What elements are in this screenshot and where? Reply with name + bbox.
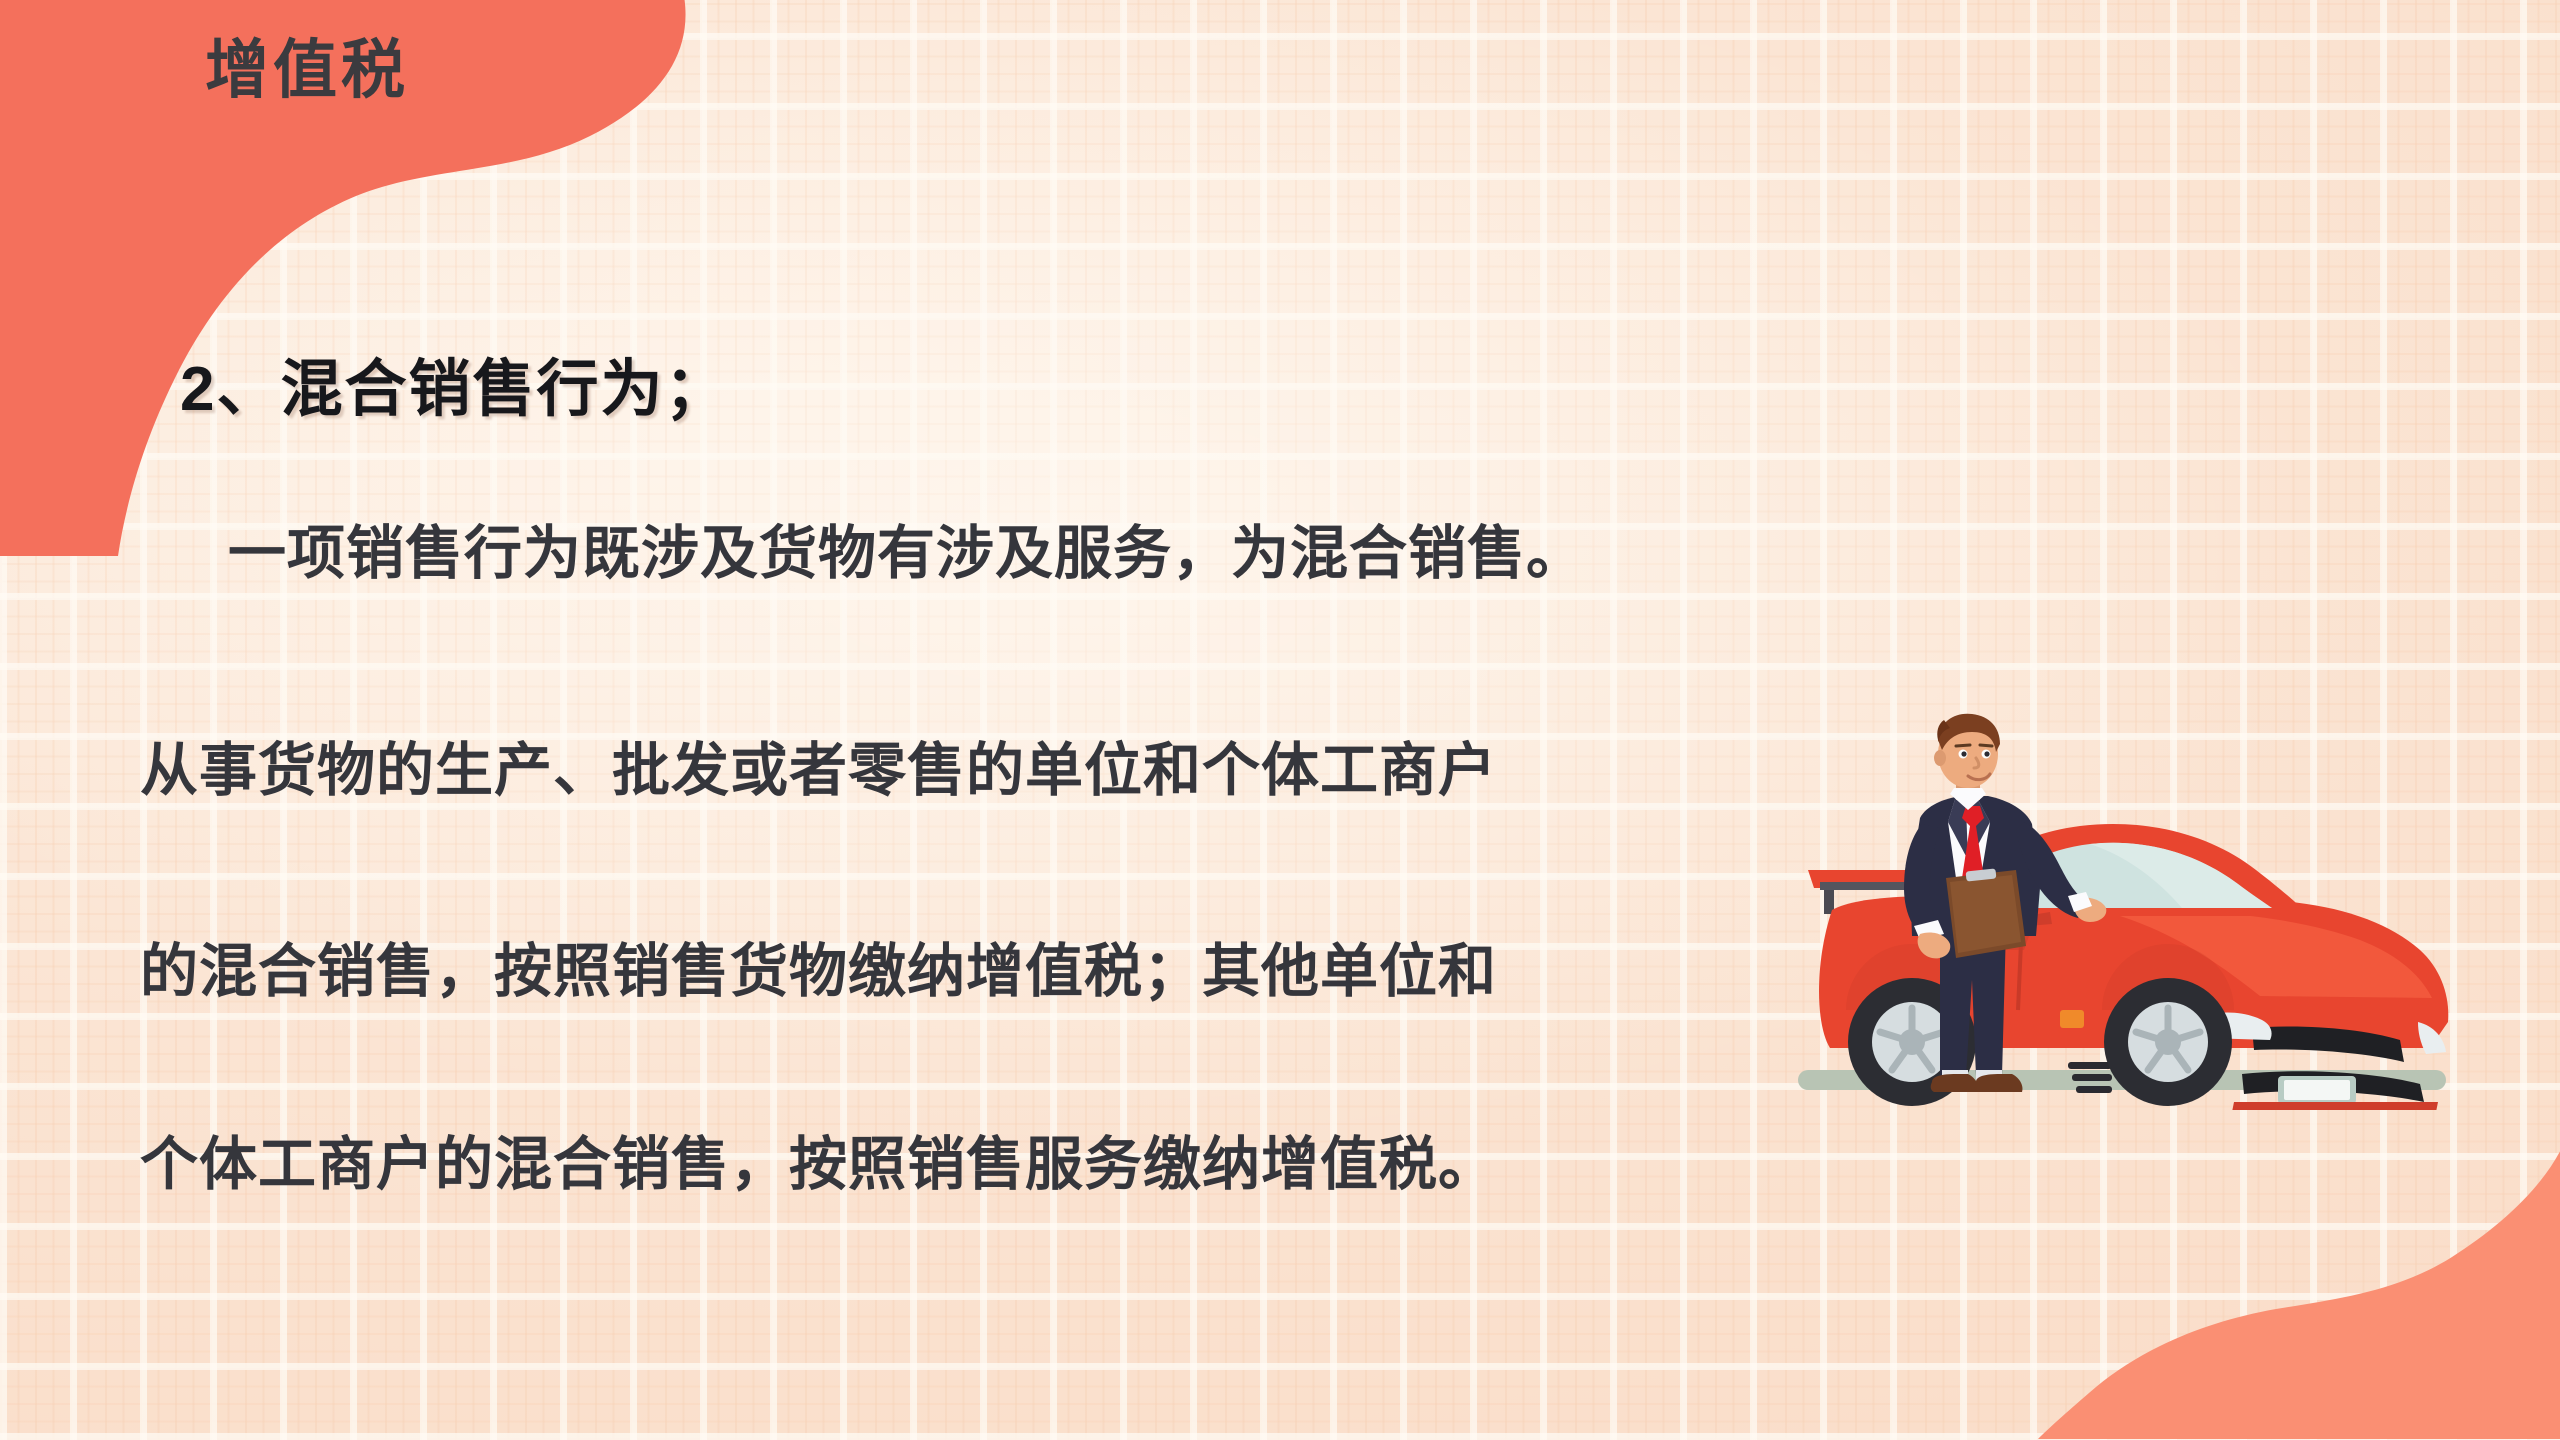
side-marker-light-icon <box>2060 1010 2084 1028</box>
body-line-2: 从事货物的生产、批发或者零售的单位和个体工商户 <box>140 742 1497 800</box>
section-heading: 2、混合销售行为； <box>180 338 728 428</box>
body-line-1: 一项销售行为既涉及货物有涉及服务，为混合销售。 <box>228 525 1585 583</box>
shoe-icon <box>1931 1074 1979 1092</box>
body-line-4: 个体工商户的混合销售，按照销售服务缴纳增值税。 <box>140 1136 1497 1194</box>
salesman-with-car-illustration <box>1790 710 2470 1110</box>
body-line-3: 的混合销售，按照销售货物缴纳增值税；其他单位和 <box>140 943 1497 1001</box>
page-title: 增值税 <box>205 38 409 102</box>
front-wheel-icon <box>2104 978 2232 1106</box>
slide-canvas: 增值税 2、混合销售行为； 一项销售行为既涉及货物有涉及服务，为混合销售。 从事… <box>0 0 2560 1440</box>
clipboard-icon <box>1946 868 2026 958</box>
